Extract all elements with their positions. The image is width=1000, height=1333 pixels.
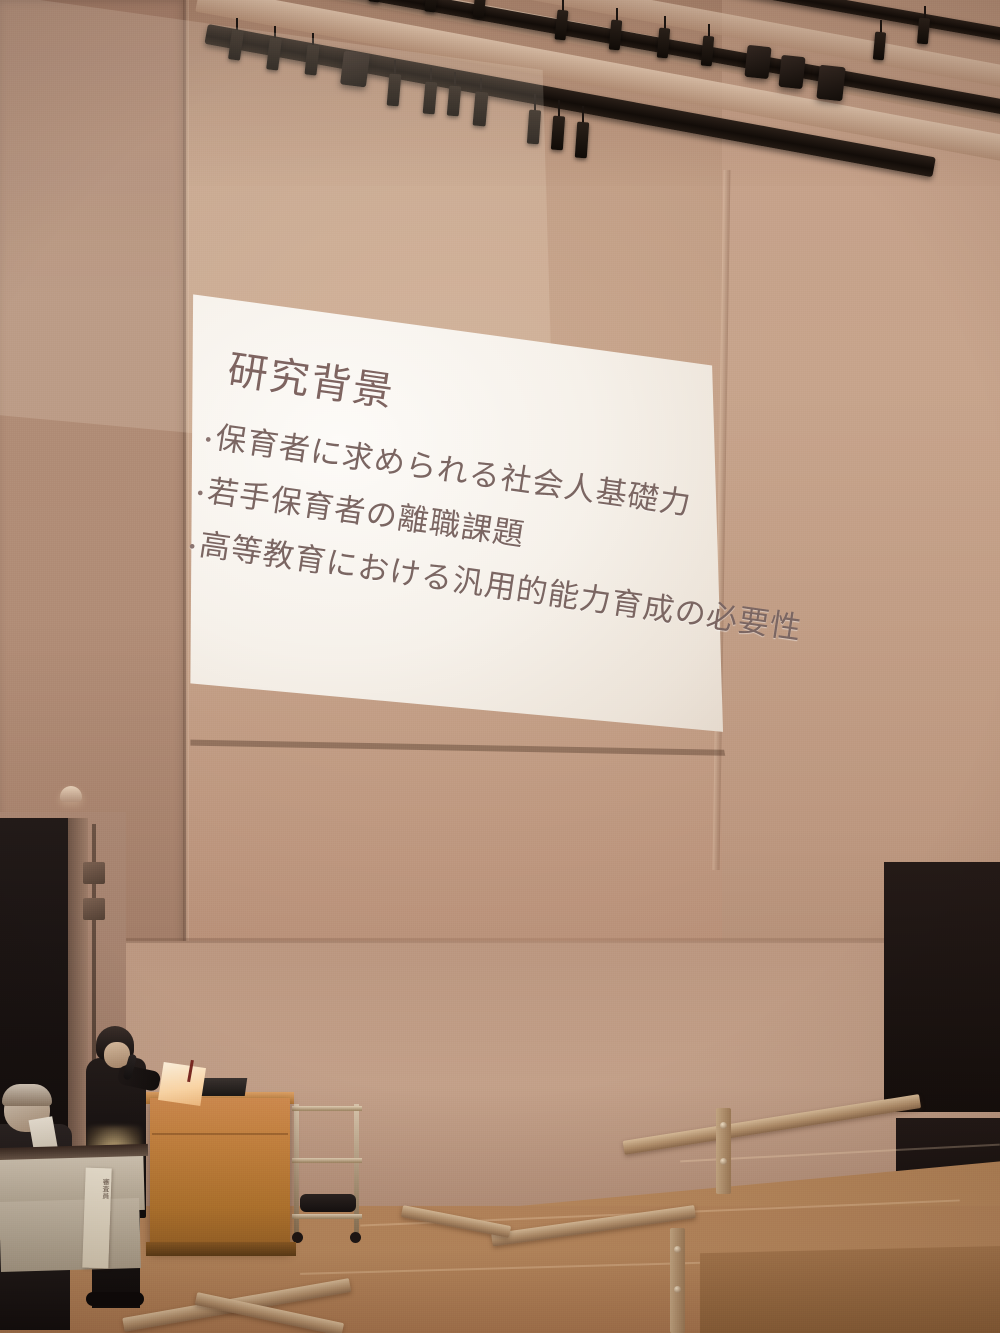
handrail-screw: [720, 1158, 727, 1165]
table-skirt: [0, 1198, 141, 1272]
slide-title: 研究背景: [224, 337, 399, 418]
cart-shelf: [292, 1214, 362, 1219]
handrail-screw: [674, 1286, 681, 1293]
door-hardware-plate: [83, 898, 105, 920]
handrail-post: [670, 1228, 685, 1333]
name-placard-text: 審査員: [85, 1178, 112, 1200]
laptop: [199, 1078, 248, 1096]
projection-screen: 研究背景 ・保育者に求められる社会人基礎力 ・若手保育者の離職課題 ・高等教育に…: [186, 286, 734, 748]
name-placard: 審査員: [82, 1168, 111, 1269]
right-dark-opening: [884, 862, 1000, 1112]
auditorium-presentation-photo: 研究背景 ・保育者に求められる社会人基礎力 ・若手保育者の離職課題 ・高等教育に…: [0, 0, 1000, 1333]
cart-wheel: [350, 1232, 361, 1243]
cart-equipment: [300, 1194, 356, 1212]
handrail-post: [716, 1108, 731, 1194]
presenter-shoes: [86, 1292, 144, 1306]
door-hardware-plate: [83, 862, 105, 884]
podium-panel-seam: [152, 1133, 288, 1135]
av-equipment-cart: [292, 1104, 362, 1244]
wall-base-trim-line: [0, 938, 1000, 943]
cart-shelf: [292, 1106, 362, 1111]
cart-shelf: [292, 1158, 362, 1163]
podium-base: [146, 1242, 296, 1256]
lit-papers: [158, 1062, 206, 1106]
podium: [150, 1098, 290, 1250]
seated-person-hair: [2, 1084, 52, 1106]
lighting-truss: [180, 0, 1000, 220]
stage-step-face: [700, 1246, 1000, 1333]
wall-sconce-light: [60, 786, 82, 802]
handrail-screw: [720, 1122, 727, 1129]
slide-content: 研究背景 ・保育者に求められる社会人基礎力 ・若手保育者の離職課題 ・高等教育に…: [121, 285, 733, 818]
handrail-screw: [674, 1246, 681, 1253]
